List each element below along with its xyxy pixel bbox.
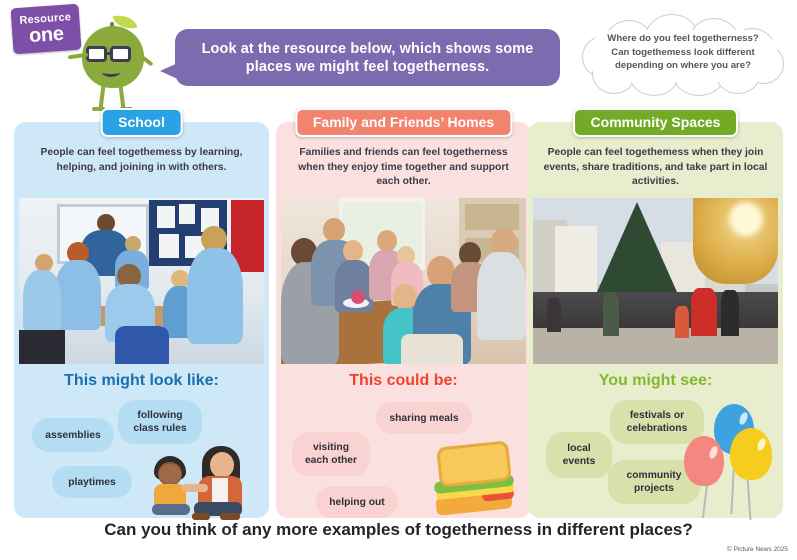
- copyright-notice: © Picture News 2025: [727, 546, 788, 553]
- balloons-icon: [678, 402, 778, 520]
- teacher-and-child-illustration-icon: [144, 440, 264, 520]
- chip-assemblies: assemblies: [32, 418, 114, 452]
- column-school-section-title: This might look like:: [14, 372, 269, 390]
- town-square-market-photo: [533, 198, 778, 364]
- cloud-line-1: Where do you feel togetherness?: [588, 32, 778, 46]
- column-homes-description: Families and friends can feel togetherne…: [288, 146, 519, 190]
- column-homes-title-pill: Family and Friends’ Homes: [295, 108, 512, 137]
- column-community-spaces: Community Spaces People can feel togethe…: [528, 122, 783, 518]
- chip-local-events: local events: [546, 432, 612, 478]
- column-school: School People can feel togethemess by le…: [14, 122, 269, 518]
- header-area: Resource one Look at the resource below,…: [0, 0, 797, 118]
- sandwich-icon: [426, 438, 522, 520]
- column-homes-section-title: This could be:: [276, 372, 531, 390]
- column-community-title-pill: Community Spaces: [573, 108, 739, 137]
- chip-following-class-rules: following class rules: [118, 400, 202, 444]
- cloud-line-3: depending on where you are?: [588, 59, 778, 73]
- apple-mascot-icon: [62, 14, 166, 114]
- instruction-text: Look at the resource below, which shows …: [175, 40, 560, 76]
- classroom-photo: [19, 198, 264, 364]
- chip-visiting-each-other: visiting each other: [292, 432, 370, 476]
- cloud-line-2: Can togethemess look different: [588, 46, 778, 60]
- logo-line-2: one: [28, 23, 64, 46]
- column-school-title-pill: School: [100, 108, 183, 137]
- instruction-speech-bubble: Look at the resource below, which shows …: [175, 29, 560, 86]
- chip-sharing-meals: sharing meals: [376, 402, 472, 434]
- family-meal-photo: [281, 198, 526, 364]
- chip-playtimes: playtimes: [52, 466, 132, 498]
- question-thought-cloud: Where do you feel togetherness? Can toge…: [578, 14, 788, 96]
- column-community-description: People can feel togethemess when they jo…: [540, 146, 771, 190]
- column-family-friends-homes: Family and Friends’ Homes Families and f…: [276, 122, 531, 518]
- footer-question: Can you think of any more examples of to…: [0, 520, 797, 540]
- thought-cloud-text: Where do you feel togetherness? Can toge…: [588, 32, 778, 73]
- column-community-section-title: You might see:: [528, 372, 783, 390]
- column-school-description: People can feel togethemess by learning,…: [26, 146, 257, 175]
- chip-helping-out: helping out: [316, 486, 398, 518]
